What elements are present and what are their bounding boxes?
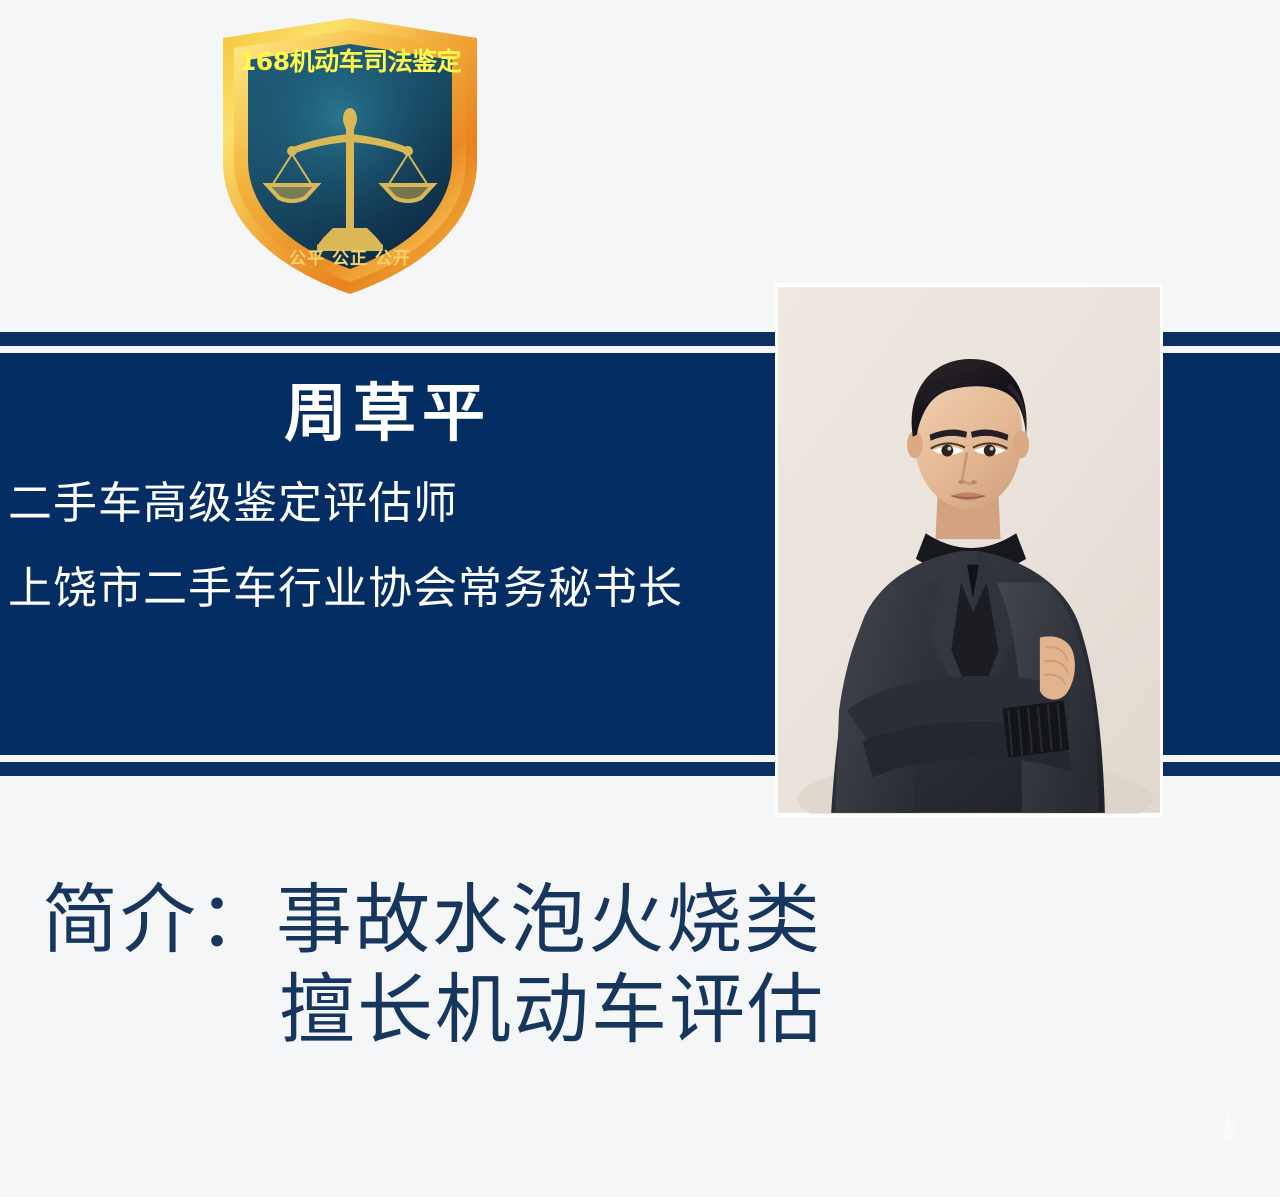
person-title-primary: 二手车高级鉴定评估师 — [8, 482, 458, 526]
corner-watermark — [1216, 1109, 1242, 1149]
portrait-illustration — [778, 286, 1160, 814]
shield-title: 168机动车司法鉴定 — [239, 47, 462, 76]
intro-line-1: 简介：事故水泡火烧类 — [42, 875, 825, 965]
intro-headline: 简介：事故水泡火烧类 擅长机动车评估 — [42, 875, 825, 1054]
person-title-secondary: 上饶市二手车行业协会常务秘书长 — [8, 567, 683, 611]
watermark-icon — [1216, 1109, 1242, 1149]
portrait-photo — [775, 283, 1163, 817]
intro-line-2: 擅长机动车评估 — [42, 965, 825, 1055]
person-name: 周草平 — [0, 382, 775, 445]
eye-right — [984, 445, 996, 457]
shield-icon: 168机动车司法鉴定 公平 公正 公开 — [205, 12, 495, 300]
shield-motto: 公平 公正 公开 — [289, 249, 411, 269]
eye-left — [941, 445, 953, 457]
company-logo: 168机动车司法鉴定 公平 公正 公开 — [205, 12, 495, 300]
